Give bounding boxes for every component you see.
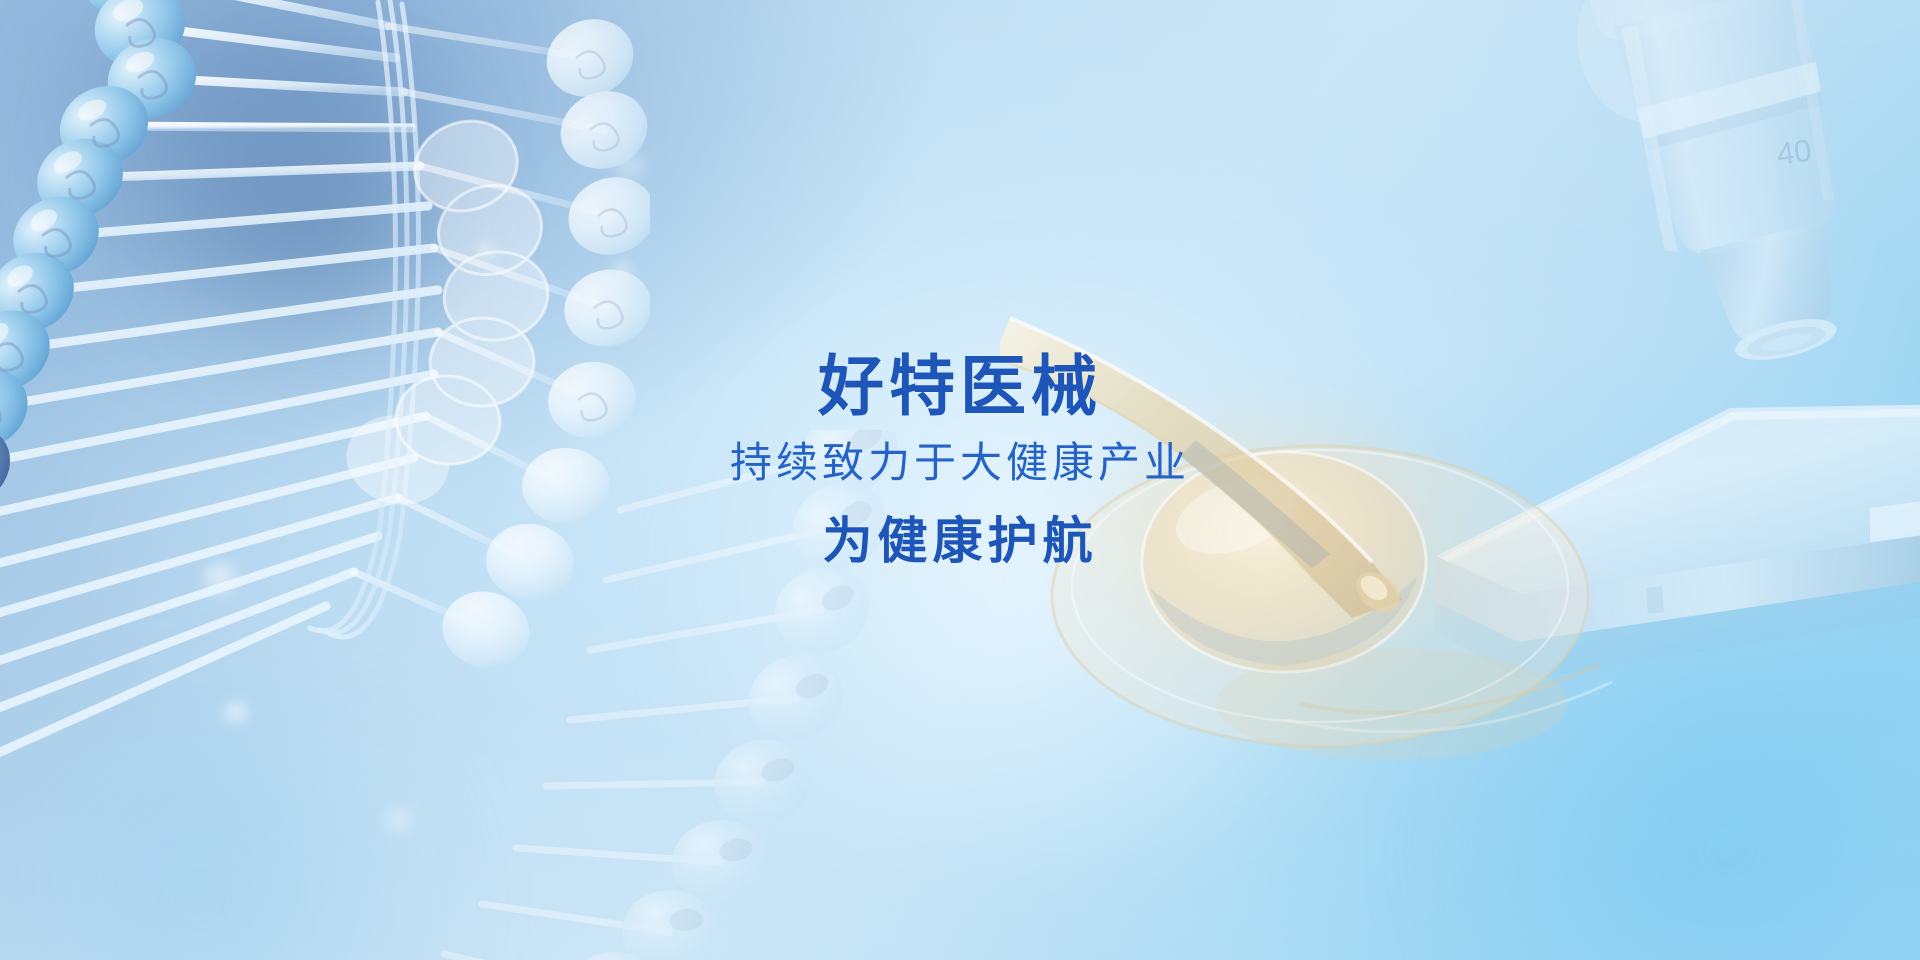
background-blur-top-left-2 [175, 55, 475, 385]
hero-copy: 好特医械 持续致力于大健康产业 为健康护航 [0, 352, 1920, 569]
bokeh-dot [608, 258, 638, 286]
bokeh-dot [474, 240, 500, 264]
bokeh-dot [610, 150, 650, 186]
bokeh-dot [222, 700, 252, 728]
page-slogan: 为健康护航 [0, 514, 1920, 569]
dna-helix-secondary-icon [150, 430, 910, 960]
bokeh-dot [382, 806, 418, 838]
background-blur-bottom-right [1420, 620, 1920, 960]
background-blur-bottom-left [0, 700, 480, 960]
bokeh-dot [26, 288, 60, 318]
svg-text:40: 40 [1775, 133, 1813, 172]
page-subtitle: 持续致力于大健康产业 [0, 440, 1920, 486]
hero-banner: 40 [0, 0, 1920, 960]
page-title: 好特医械 [0, 352, 1920, 422]
background-blur-top-left [40, 0, 460, 360]
